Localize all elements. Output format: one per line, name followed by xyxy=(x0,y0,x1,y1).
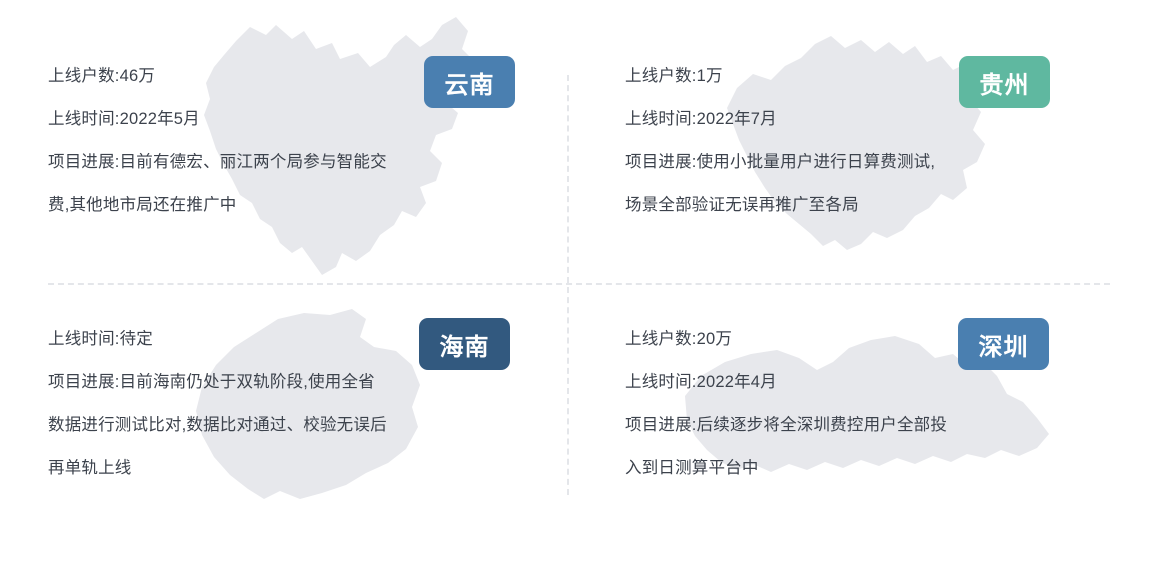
card-line-1: 上线户数:1万 xyxy=(625,55,1095,98)
card-text-hainan: 上线时间:待定 项目进展:目前海南仍处于双轨阶段,使用全省 数据进行测试比对,数… xyxy=(48,318,518,490)
card-line-4: 入到日测算平台中 xyxy=(625,447,1095,490)
card-text-guizhou: 上线户数:1万 上线时间:2022年7月 项目进展:使用小批量用户进行日算费测试… xyxy=(625,55,1095,227)
card-line-3: 项目进展:目前有德宏、丽江两个局参与智能交 xyxy=(48,141,518,184)
card-line-1: 上线户数:46万 xyxy=(48,55,518,98)
card-line-4: 场景全部验证无误再推广至各局 xyxy=(625,184,1095,227)
card-line-3: 数据进行测试比对,数据比对通过、校验无误后 xyxy=(48,404,518,447)
infographic-root: 云南 上线户数:46万 上线时间:2022年5月 项目进展:目前有德宏、丽江两个… xyxy=(0,0,1154,566)
card-text-yunnan: 上线户数:46万 上线时间:2022年5月 项目进展:目前有德宏、丽江两个局参与… xyxy=(48,55,518,227)
card-line-4: 再单轨上线 xyxy=(48,447,518,490)
card-line-3: 项目进展:使用小批量用户进行日算费测试, xyxy=(625,141,1095,184)
province-card-yunnan[interactable]: 云南 上线户数:46万 上线时间:2022年5月 项目进展:目前有德宏、丽江两个… xyxy=(0,0,577,283)
province-card-hainan[interactable]: 海南 上线时间:待定 项目进展:目前海南仍处于双轨阶段,使用全省 数据进行测试比… xyxy=(0,283,577,566)
card-line-1: 上线时间:待定 xyxy=(48,318,518,361)
card-line-1: 上线户数:20万 xyxy=(625,318,1095,361)
province-card-shenzhen[interactable]: 深圳 上线户数:20万 上线时间:2022年4月 项目进展:后续逐步将全深圳费控… xyxy=(577,283,1154,566)
card-line-2: 上线时间:2022年7月 xyxy=(625,98,1095,141)
card-line-3: 项目进展:后续逐步将全深圳费控用户全部投 xyxy=(625,404,1095,447)
card-line-2: 项目进展:目前海南仍处于双轨阶段,使用全省 xyxy=(48,361,518,404)
card-line-2: 上线时间:2022年5月 xyxy=(48,98,518,141)
province-card-guizhou[interactable]: 贵州 上线户数:1万 上线时间:2022年7月 项目进展:使用小批量用户进行日算… xyxy=(577,0,1154,283)
card-text-shenzhen: 上线户数:20万 上线时间:2022年4月 项目进展:后续逐步将全深圳费控用户全… xyxy=(625,318,1095,490)
card-line-4: 费,其他地市局还在推广中 xyxy=(48,184,518,227)
card-line-2: 上线时间:2022年4月 xyxy=(625,361,1095,404)
